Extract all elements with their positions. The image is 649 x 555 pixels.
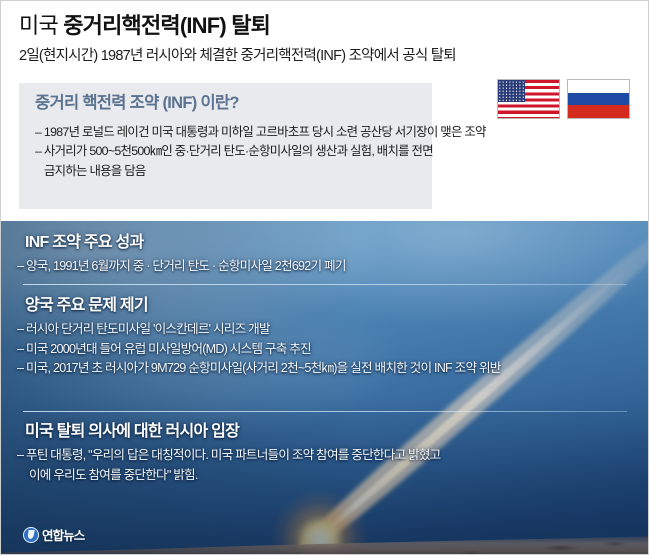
bullet-text: – 미국 2000년대 들어 유럽 미사일방어(MD) 시스템 구축 추진 (17, 342, 311, 356)
explainer-bullet-list: – 1987년 로널드 레이건 미국 대통령과 미하일 고르바초프 당시 소련 … (35, 123, 420, 182)
section-title: 양국 주요 문제 제기 (25, 296, 649, 315)
bullet-text: – 푸틴 대통령, "우리의 답은 대칭적이다. 미국 파트너들이 조약 참여를… (17, 448, 440, 462)
list-item: – 러시아 단거리 탄도미사일 '이스칸데르' 시리즈 개발 (17, 320, 649, 340)
bullet-continuation: 금지하는 내용을 담음 (35, 162, 420, 182)
photo-text-overlay: INF 조약 주요 성과 – 양국, 1991년 6월까지 중 · 단거리 탄도… (1, 221, 649, 555)
us-flag-stars (498, 80, 525, 102)
zone-divider (1, 211, 649, 221)
russia-flag-icon (567, 79, 630, 119)
ru-flag-blue-band (568, 93, 629, 106)
page-subtitle: 2일(현지시간) 1987년 러시아와 체결한 중거리핵전력(INF) 조약에서… (19, 47, 636, 65)
inf-explainer-panel: 중거리 핵전력 조약 (INF) 이란? – 1987년 로널드 레이건 미국 … (19, 83, 432, 209)
list-item: – 미국, 2017년 초 러시아가 9M729 순항미사일(사거리 2천~5천… (17, 359, 649, 379)
bullet-text: – 러시아 단거리 탄도미사일 '이스칸데르' 시리즈 개발 (17, 322, 270, 336)
infographic-card: 미국 중거리핵전력(INF) 탈퇴 2일(현지시간) 1987년 러시아와 체결… (0, 0, 649, 555)
flag-group (497, 79, 630, 119)
missile-launch-photo: INF 조약 주요 성과 – 양국, 1991년 6월까지 중 · 단거리 탄도… (1, 221, 649, 555)
section-inf-achievements: INF 조약 주요 성과 – 양국, 1991년 6월까지 중 · 단거리 탄도… (1, 233, 649, 277)
ru-flag-white-band (568, 80, 629, 93)
headline-lead: 미국 (19, 13, 58, 38)
list-item: – 사거리가 500~5천500㎞인 중·단거리 탄도·순항미사일의 생산과 실… (35, 142, 420, 181)
ru-flag-red-band (568, 105, 629, 118)
bullet-continuation: 이에 우리도 참여를 중단한다" 밝힘. (17, 466, 649, 486)
united-states-flag-icon (497, 79, 560, 119)
bullet-text: – 양국, 1991년 6월까지 중 · 단거리 탄도 · 순항미사일 2천69… (17, 259, 346, 273)
section-bullet-list: – 러시아 단거리 탄도미사일 '이스칸데르' 시리즈 개발 – 미국 2000… (25, 320, 649, 379)
yonhap-badge-icon (23, 527, 39, 543)
list-item: – 미국 2000년대 들어 유럽 미사일방어(MD) 시스템 구축 추진 (17, 340, 649, 360)
section-bullet-list: – 양국, 1991년 6월까지 중 · 단거리 탄도 · 순항미사일 2천69… (25, 257, 649, 277)
section-mutual-issues: 양국 주요 문제 제기 – 러시아 단거리 탄도미사일 '이스칸데르' 시리즈 … (1, 296, 649, 379)
bullet-text: – 미국, 2017년 초 러시아가 9M729 순항미사일(사거리 2천~5천… (17, 361, 501, 375)
bullet-text: – 사거리가 500~5천500㎞인 중·단거리 탄도·순항미사일의 생산과 실… (35, 144, 433, 158)
section-title: 미국 탈퇴 의사에 대한 러시아 입장 (25, 422, 649, 441)
bullet-text: – 1987년 로널드 레이건 미국 대통령과 미하일 고르바초프 당시 소련 … (35, 125, 486, 139)
explainer-title: 중거리 핵전력 조약 (INF) 이란? (35, 94, 420, 114)
list-item: – 1987년 로널드 레이건 미국 대통령과 미하일 고르바초프 당시 소련 … (35, 123, 420, 143)
list-item: – 푸틴 대통령, "우리의 답은 대칭적이다. 미국 파트너들이 조약 참여를… (17, 446, 649, 485)
section-russia-response: 미국 탈퇴 의사에 대한 러시아 입장 – 푸틴 대통령, "우리의 답은 대칭… (1, 422, 649, 485)
list-item: – 양국, 1991년 6월까지 중 · 단거리 탄도 · 순항미사일 2천69… (17, 257, 649, 277)
page-title: 미국 중거리핵전력(INF) 탈퇴 (19, 13, 636, 40)
header-zone: 미국 중거리핵전력(INF) 탈퇴 2일(현지시간) 1987년 러시아와 체결… (1, 1, 649, 221)
section-divider (23, 284, 627, 285)
section-bullet-list: – 푸틴 대통령, "우리의 답은 대칭적이다. 미국 파트너들이 조약 참여를… (25, 446, 649, 485)
section-divider (23, 411, 627, 412)
section-title: INF 조약 주요 성과 (25, 233, 649, 252)
headline-main: 중거리핵전력(INF) 탈퇴 (63, 13, 270, 38)
logo-label: 연합뉴스 (42, 525, 84, 544)
yonhap-news-logo: 연합뉴스 (23, 525, 84, 544)
